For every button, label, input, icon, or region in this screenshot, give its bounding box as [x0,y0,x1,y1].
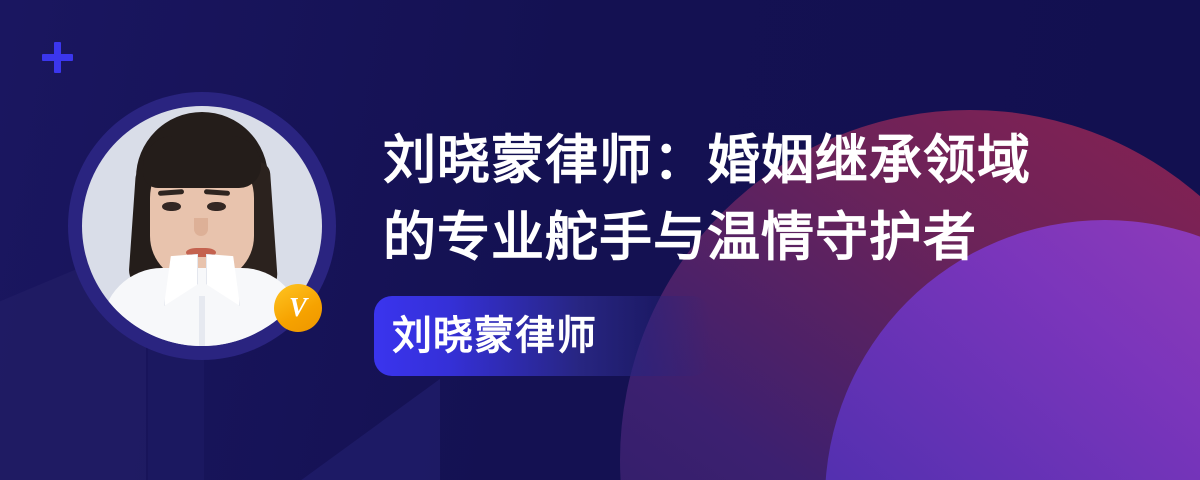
portrait-eye-left [162,202,181,211]
portrait-fringe [143,136,261,188]
name-badge: 刘晓蒙律师 [374,296,710,376]
portrait-shirt-placket [199,296,205,346]
verified-check-icon: V [274,284,322,332]
plus-icon [42,42,73,73]
lawyer-profile-banner: V 刘晓蒙律师：婚姻继承领域的专业舵手与温情守护者 刘晓蒙律师 [0,0,1200,480]
headline-title: 刘晓蒙律师：婚姻继承领域的专业舵手与温情守护者 [383,122,1083,277]
avatar: V [68,92,336,360]
portrait-nose [194,218,208,236]
portrait-eye-right [207,202,226,211]
verified-mark-label: V [289,294,307,321]
name-badge-label: 刘晓蒙律师 [392,316,597,356]
